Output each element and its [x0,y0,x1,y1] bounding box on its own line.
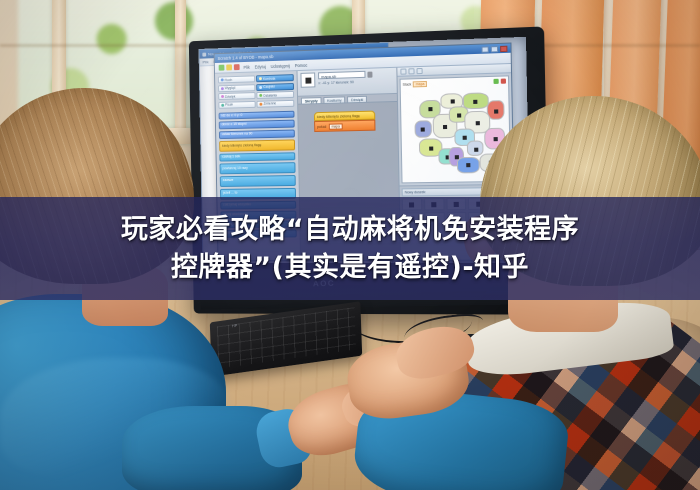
palette-block[interactable]: obróć o 15 stopni [219,120,295,130]
category-dot-icon [221,95,224,98]
menu-item-file[interactable]: Plik [243,64,250,69]
stop-icon[interactable] [234,64,240,70]
region-marker[interactable] [429,146,433,150]
project-label: Stack [403,82,412,86]
script-stack[interactable]: kiedy kliknięto zieloną flagę pokaż mapa [314,111,376,132]
palette-block[interactable]: kiedy kliknięto zieloną flagę [219,140,295,152]
category-label: Dźwięk [225,94,235,98]
green-flag-icon[interactable] [219,65,225,71]
category-dot-icon [259,102,262,105]
block-input-slot[interactable]: mapa [328,123,342,129]
sprite-fields: mapa.sb x: -41 y: 17 kierunek: 90 [318,70,394,85]
region-marker[interactable] [428,107,432,111]
sprite-thumbnail[interactable] [300,72,315,87]
shrink-icon[interactable] [416,68,422,74]
block-show[interactable]: pokaż mapa [314,120,375,132]
category-label: Wygląd [225,86,236,90]
sprite-info-panel[interactable]: mapa.sb x: -41 y: 17 kierunek: 90 [298,68,397,97]
palette-category-variables[interactable]: Zmienne [257,99,295,107]
category-dot-icon [221,103,224,106]
category-label: Pisak [225,103,233,107]
pointer-icon[interactable] [400,68,406,74]
menu-item-edit[interactable]: Edytuj [255,64,266,69]
category-dot-icon [220,78,223,81]
maximize-icon[interactable] [491,46,498,52]
region-marker[interactable] [421,127,425,131]
window-icon [202,52,206,56]
keyboard-brand-logo: HP [232,323,238,329]
palette-block[interactable]: czekaj 1 sek. [219,152,295,161]
caption-overlay-band: 玩家必看攻略“自动麻将机免安装程序 控牌器”(其实是有遥控)-知乎 [0,197,700,300]
palette-block[interactable]: idź do x: 0 y: 0 [219,110,295,120]
scratch-window-title: Scratch 1.4 of BYOB - mapa.sb [218,54,274,61]
palette-block[interactable]: ustaw kierunek na 90 [219,130,295,139]
stage-header: Stack mapa [403,80,427,87]
palette-block[interactable]: zawsze [220,175,296,187]
palette-category-motion[interactable]: Ruch [218,75,255,83]
category-label: Zmienne [263,101,276,105]
presentation-mode-icon[interactable] [493,78,498,83]
close-icon[interactable] [500,45,507,51]
palette-category-operators[interactable]: Działania [257,91,295,99]
category-label: Czujniki [263,85,275,89]
caption-line-1: 玩家必看攻略“自动麻将机免安装程序 [121,212,579,247]
caption-line-2: 控牌器”(其实是有遥控)-知乎 [171,250,529,285]
menu-item-help[interactable]: Pomoc [295,62,308,67]
category-dot-icon [259,86,262,89]
palette-category-sensing[interactable]: Czujniki [256,83,294,91]
run-controls[interactable] [219,64,240,71]
region-lubuskie [414,120,431,138]
stage-controls[interactable] [493,78,506,83]
minimize-icon[interactable] [481,46,488,52]
menu-item-share[interactable]: Udostępnij [271,63,290,69]
category-label: Kontrola [263,76,275,80]
stop-icon[interactable] [501,78,506,83]
sprite-glyph-icon [305,77,311,83]
category-label: Ruch [225,78,233,82]
palette-category-pen[interactable]: Pisak [218,100,255,108]
pause-icon[interactable] [226,64,232,70]
palette-category-looks[interactable]: Wygląd [218,84,255,92]
lock-icon[interactable] [367,71,372,77]
region-marker[interactable] [443,125,447,129]
block-label: pokaż [317,124,326,128]
sprite-name-input[interactable]: mapa.sb [318,71,365,79]
category-dot-icon [220,87,223,90]
new-sprite-label: Nowy duszek: [405,190,426,194]
category-label: Działania [263,93,277,97]
stage-badge: mapa [413,80,427,86]
palette-block[interactable]: powtarzaj 10 razy [220,162,296,174]
category-dot-icon [259,77,262,80]
grow-icon[interactable] [408,68,414,74]
screenshot-root: Nowy dokument - Notatnik Plik Edycja For… [0,0,700,490]
menu-item-file[interactable]: Plik [202,59,208,64]
palette-category-control[interactable]: Kontrola [256,74,294,82]
palette-category-grid[interactable]: Ruch Kontrola Wygląd [218,74,294,108]
window-controls[interactable] [481,45,507,52]
palette-category-sound[interactable]: Dźwięk [218,92,255,100]
category-dot-icon [259,94,262,97]
scratch-menubar[interactable]: Plik Edytuj Udostępnij Pomoc [243,62,307,69]
